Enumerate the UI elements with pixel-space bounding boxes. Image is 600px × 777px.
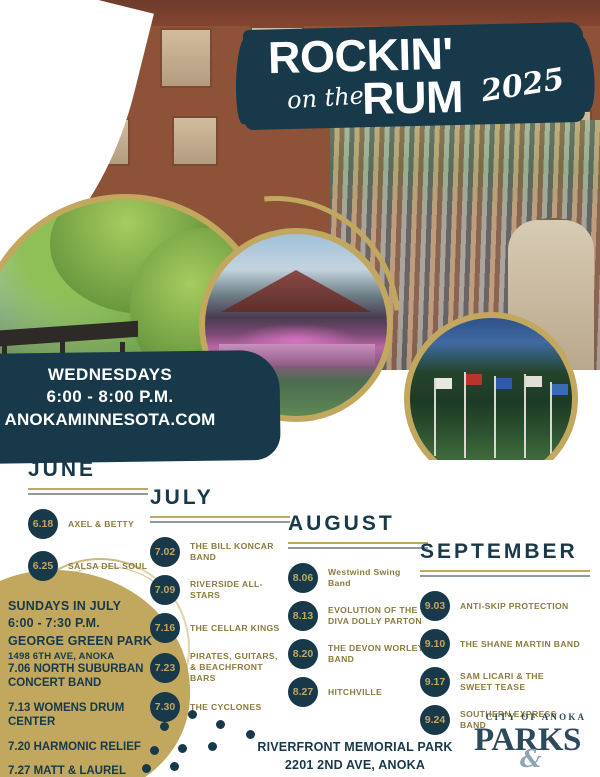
sundays-day-label: SUNDAYS IN JULY bbox=[8, 598, 198, 615]
event-band-name: ANTI-SKIP PROTECTION bbox=[460, 601, 569, 612]
event-date-badge: 8.06 bbox=[288, 563, 318, 593]
month-rule-gold-august bbox=[288, 542, 428, 544]
event-date-badge: 8.27 bbox=[288, 677, 318, 707]
logo-rec-label: & Rec bbox=[520, 744, 594, 777]
event-row[interactable]: 7.02 THE BILL KONCAR BAND bbox=[150, 537, 290, 567]
event-band-name: Westwind Swing Band bbox=[328, 567, 401, 589]
wednesdays-day-label: WEDNESDAYS bbox=[0, 364, 260, 386]
month-title-september: SEPTEMBER bbox=[420, 540, 590, 564]
parks-and-rec-logo: CITY OF ANOKA PARKS & Rec bbox=[472, 712, 594, 770]
month-rule-gray-june bbox=[28, 493, 148, 495]
event-date-badge: 9.03 bbox=[420, 591, 450, 621]
month-rule-gray-september bbox=[420, 575, 590, 577]
event-band-name: PIRATES, GUITARS, & BEACHFRONT BARS bbox=[190, 651, 290, 684]
month-rule-gray-july bbox=[150, 521, 290, 523]
month-title-june: JUNE bbox=[28, 458, 148, 482]
event-row[interactable]: 6.25 SALSA DEL SOUL bbox=[28, 551, 148, 581]
event-row[interactable]: 9.10 THE SHANE MARTIN BAND bbox=[420, 629, 590, 659]
website-link[interactable]: ANOKAMINNESOTA.COM bbox=[0, 409, 260, 431]
month-rule-gold-september bbox=[420, 570, 590, 572]
event-band-name: THE CELLAR KINGS bbox=[190, 623, 280, 634]
event-row[interactable]: 8.20 THE DEVON WORLEY BAND bbox=[288, 639, 428, 669]
event-date-badge: 7.02 bbox=[150, 537, 180, 567]
event-band-name: HITCHVILLE bbox=[328, 687, 382, 698]
event-date-badge: 8.20 bbox=[288, 639, 318, 669]
event-row[interactable]: 6.18 AXEL & BETTY bbox=[28, 509, 148, 539]
month-title-august: AUGUST bbox=[288, 512, 428, 536]
sundays-event-item[interactable]: 7.06 NORTH SUBURBAN CONCERT BAND bbox=[8, 662, 188, 691]
event-date-badge: 6.18 bbox=[28, 509, 58, 539]
event-date-badge: 8.13 bbox=[288, 601, 318, 631]
event-date-badge: 9.10 bbox=[420, 629, 450, 659]
month-column-august: AUGUST 8.06 Westwind Swing Band 8.13 EVO… bbox=[288, 512, 428, 715]
sundays-park-label: GEORGE GREEN PARK bbox=[8, 633, 198, 650]
event-band-name: THE SHANE MARTIN BAND bbox=[460, 639, 580, 650]
event-band-name: AXEL & BETTY bbox=[68, 519, 134, 530]
event-band-name: SAM LICARI & THE SWEET TEASE bbox=[460, 671, 544, 693]
sundays-heading-block: SUNDAYS IN JULY 6:00 - 7:30 P.M. GEORGE … bbox=[8, 598, 198, 663]
sundays-time-label: 6:00 - 7:30 P.M. bbox=[8, 615, 198, 632]
event-band-name: THE DEVON WORLEY BAND bbox=[328, 643, 424, 665]
sundays-address-label: 1498 6TH AVE, ANOKA bbox=[8, 650, 198, 663]
event-row[interactable]: 8.13 EVOLUTION OF THE DIVA DOLLY PARTON bbox=[288, 601, 428, 631]
venue-block: RIVERFRONT MEMORIAL PARK 2201 2ND AVE, A… bbox=[240, 738, 470, 774]
event-band-name: SALSA DEL SOUL bbox=[68, 561, 147, 572]
wednesdays-info-block: WEDNESDAYS 6:00 - 8:00 P.M. ANOKAMINNESO… bbox=[0, 364, 260, 431]
title-on-the-script: on the bbox=[286, 81, 365, 114]
event-row[interactable]: 9.17 SAM LICARI & THE SWEET TEASE bbox=[420, 667, 590, 697]
event-date-badge: 9.17 bbox=[420, 667, 450, 697]
event-date-badge: 9.24 bbox=[420, 705, 450, 735]
month-title-july: JULY bbox=[150, 486, 290, 510]
title-rum: RUM bbox=[361, 71, 463, 125]
month-column-june: JUNE 6.18 AXEL & BETTY 6.25 SALSA DEL SO… bbox=[28, 458, 148, 593]
venue-address: 2201 2ND AVE, ANOKA bbox=[240, 756, 470, 774]
wednesdays-time-label: 6:00 - 8:00 P.M. bbox=[0, 386, 260, 408]
event-band-name: RIVERSIDE ALL-STARS bbox=[190, 579, 290, 601]
poster-canvas: ROCKIN' on the RUM 2025 WEDNESDAYS 6:00 … bbox=[0, 0, 600, 777]
venue-name: RIVERFRONT MEMORIAL PARK bbox=[240, 738, 470, 756]
event-row[interactable]: 9.03 ANTI-SKIP PROTECTION bbox=[420, 591, 590, 621]
event-row[interactable]: 8.27 HITCHVILLE bbox=[288, 677, 428, 707]
event-band-name: EVOLUTION OF THE DIVA DOLLY PARTON bbox=[328, 605, 422, 627]
month-rule-gold-june bbox=[28, 488, 148, 490]
event-list-august: 8.06 Westwind Swing Band 8.13 EVOLUTION … bbox=[288, 563, 428, 707]
event-band-name: THE BILL KONCAR BAND bbox=[190, 541, 290, 563]
event-date-badge: 6.25 bbox=[28, 551, 58, 581]
month-rule-gold-july bbox=[150, 516, 290, 518]
event-list-june: 6.18 AXEL & BETTY 6.25 SALSA DEL SOUL bbox=[28, 509, 148, 581]
event-row[interactable]: 8.06 Westwind Swing Band bbox=[288, 563, 428, 593]
logo-city-label: CITY OF ANOKA bbox=[480, 712, 592, 722]
month-rule-gray-august bbox=[288, 547, 428, 549]
